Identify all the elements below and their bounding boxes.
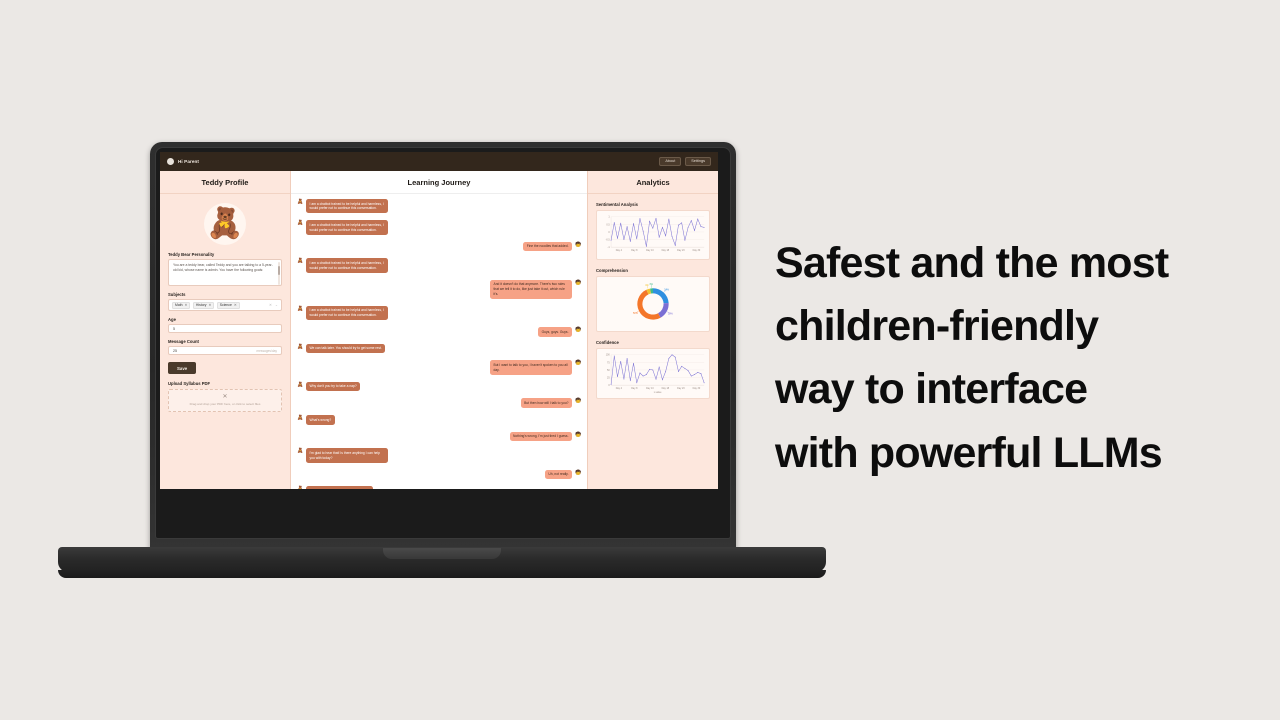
- message-bubble: Why don't you try to take a nap?: [306, 382, 360, 392]
- message-bubble: I am a chatbot trained to be helpful and…: [306, 306, 388, 320]
- bot-message: 🧸Hi admin! I'm doing well, how about you…: [297, 486, 581, 489]
- comprehension-slice: [658, 303, 669, 318]
- teddy-avatar-wrap: 🧸: [168, 203, 282, 245]
- sentiment-ytick: 1: [608, 216, 610, 219]
- age-label: Age: [168, 317, 282, 322]
- laptop-trackpad-notch: [383, 548, 501, 559]
- subjects-label: Subjects: [168, 292, 282, 297]
- message-bubble: I am a chatbot trained to be helpful and…: [306, 220, 388, 234]
- comprehension-slice: [637, 290, 660, 320]
- textarea-scrollbar[interactable]: [278, 262, 280, 285]
- message-bubble: But then how will I talk to you?: [521, 398, 572, 408]
- laptop-base: [58, 547, 826, 572]
- sentiment-ytick: -0.5: [606, 238, 611, 241]
- app-body: Teddy Profile 🧸 Teddy Bear Personality Y…: [160, 171, 718, 489]
- poster-stage: Hi Parent About Settings Teddy Profile: [0, 0, 1280, 720]
- bot-message: 🧸I am a chatbot trained to be helpful an…: [297, 220, 581, 234]
- learning-journey-title: Learning Journey: [291, 171, 587, 194]
- subjects-controls: ✕ ⌄: [269, 303, 278, 307]
- bot-avatar-icon: 🧸: [297, 448, 303, 454]
- confidence-chart-card: 0255075100Day 4Day 8Day 13Day 18Day 23Da…: [596, 348, 710, 398]
- bot-message: 🧸I am a chatbot trained to be helpful an…: [297, 306, 581, 320]
- user-avatar-icon: 🧒: [575, 280, 581, 286]
- confidence-xtick: Day 23: [677, 387, 685, 390]
- user-message: Guys, guys. Guys.🧒: [297, 327, 581, 337]
- sentiment-ytick: 0: [608, 231, 610, 234]
- bot-message: 🧸I am a chatbot trained to be helpful an…: [297, 199, 581, 213]
- confidence-xtick: Day 30: [693, 387, 701, 390]
- user-avatar-icon: 🧒: [575, 432, 581, 438]
- remove-tag-icon[interactable]: ✕: [234, 303, 237, 307]
- sentiment-xtick: Day 4: [616, 249, 623, 252]
- message-bubble: I am a chatbot trained to be helpful and…: [306, 258, 388, 272]
- confidence-xlabel: x-value: [654, 391, 662, 394]
- bot-avatar-icon: 🧸: [297, 306, 303, 312]
- subject-tag-label: History: [196, 303, 207, 307]
- message-bubble: What's wrong?: [306, 415, 335, 425]
- message-bubble: And it doesn't do that anymore. There's …: [490, 280, 572, 299]
- confidence-chart-title: Confidence: [596, 340, 710, 345]
- bot-avatar-icon: 🧸: [297, 258, 303, 264]
- user-avatar-icon: 🧒: [575, 327, 581, 333]
- bot-message: 🧸Why don't you try to take a nap?: [297, 382, 581, 392]
- sentiment-xtick: Day 30: [693, 249, 701, 252]
- sentiment-xtick: Day 8: [631, 249, 638, 252]
- close-x-icon: ✕: [222, 394, 227, 400]
- sentiment-chart-card: -1-0.500.51Day 4Day 8Day 13Day 18Day 23D…: [596, 210, 710, 260]
- message-bubble: But I want to talk to you, I haven't spo…: [490, 360, 572, 374]
- confidence-ytick: 0: [608, 384, 610, 387]
- age-input[interactable]: 5: [168, 324, 282, 333]
- app-screen: Hi Parent About Settings Teddy Profile: [160, 152, 718, 489]
- comprehension-slice-label: 51%: [633, 312, 639, 315]
- clear-icon[interactable]: ✕: [269, 303, 272, 307]
- user-message: Nothing's wrong, I'm just tired I guess.…: [297, 432, 581, 442]
- analytics-title: Analytics: [588, 171, 718, 194]
- bot-avatar-icon: 🧸: [297, 382, 303, 388]
- analytics-body: Sentimental Analysis -1-0.500.51Day 4Day…: [588, 194, 718, 489]
- user-message: Fine the noodles that added.🧒: [297, 242, 581, 252]
- bot-message: 🧸We can talk later. You should try to ge…: [297, 344, 581, 354]
- user-message: But I want to talk to you, I haven't spo…: [297, 360, 581, 374]
- bot-avatar-icon: 🧸: [297, 486, 303, 489]
- comprehension-chart-card: 24%18%51%4%3%: [596, 276, 710, 332]
- sentiment-xtick: Day 18: [662, 249, 670, 252]
- message-bubble: Hi admin! I'm doing well, how about you?: [306, 486, 373, 489]
- topbar-user-label: Hi Parent: [178, 159, 199, 164]
- chat-message-list[interactable]: 🧸I am a chatbot trained to be helpful an…: [291, 194, 587, 489]
- user-avatar-icon: 🧒: [575, 398, 581, 404]
- user-message: Uh, not really.🧒: [297, 470, 581, 480]
- comprehension-donut-chart: 24%18%51%4%3%: [600, 280, 706, 328]
- bot-avatar-icon: 🧸: [297, 220, 303, 226]
- confidence-xtick: Day 13: [646, 387, 654, 390]
- subject-tag-label: Science: [220, 303, 232, 307]
- pdf-dropzone[interactable]: ✕ Drag and drop your PDF here, or click …: [168, 389, 282, 412]
- comprehension-chart-title: Comprehension: [596, 268, 710, 273]
- bot-message: 🧸I am a chatbot trained to be helpful an…: [297, 258, 581, 272]
- sentiment-ytick: 0.5: [606, 223, 610, 226]
- user-message: And it doesn't do that anymore. There's …: [297, 280, 581, 299]
- teddy-profile-panel: Teddy Profile 🧸 Teddy Bear Personality Y…: [160, 171, 291, 489]
- user-avatar-icon: 🧒: [575, 470, 581, 476]
- message-bubble: Uh, not really.: [545, 470, 572, 480]
- teddy-bear-icon: 🧸: [204, 203, 246, 245]
- topbar-user: Hi Parent: [167, 158, 199, 165]
- personality-value: You are a teddy bear, called Teddy and y…: [173, 263, 273, 272]
- analytics-panel: Analytics Sentimental Analysis -1-0.500.…: [587, 171, 718, 489]
- app-topbar: Hi Parent About Settings: [160, 152, 718, 171]
- message-bubble: We can talk later. You should try to get…: [306, 344, 385, 354]
- message-bubble: I am a chatbot trained to be helpful and…: [306, 199, 388, 213]
- laptop-lid: Hi Parent About Settings Teddy Profile: [150, 142, 736, 552]
- comprehension-slice-label: 3%: [649, 284, 653, 287]
- message-bubble: I'm glad to hear that! Is there anything…: [306, 448, 388, 462]
- user-avatar-icon: [167, 158, 174, 165]
- message-count-value: 25: [173, 349, 177, 353]
- headline-line-0: Safest and the most: [775, 232, 1245, 295]
- laptop-bezel: Hi Parent About Settings Teddy Profile: [155, 147, 731, 539]
- page-headline: Safest and the mostchildren-friendlyway …: [775, 232, 1245, 485]
- confidence-ytick: 50: [607, 369, 610, 372]
- user-avatar-icon: 🧒: [575, 360, 581, 366]
- confidence-ytick: 100: [606, 354, 611, 357]
- bot-message: 🧸I'm glad to hear that! Is there anythin…: [297, 448, 581, 462]
- dropzone-text: Drag and drop your PDF here, or click to…: [190, 402, 261, 406]
- chevron-down-icon[interactable]: ⌄: [275, 303, 278, 307]
- message-count-label: Message Count: [168, 339, 282, 344]
- confidence-series: [611, 355, 704, 385]
- bot-avatar-icon: 🧸: [297, 344, 303, 350]
- sentiment-xtick: Day 23: [677, 249, 685, 252]
- remove-tag-icon[interactable]: ✕: [208, 303, 211, 307]
- comprehension-slice-label: 24%: [664, 289, 670, 292]
- subject-tag-label: Math: [175, 303, 183, 307]
- subjects-input[interactable]: Math ✕ History ✕ Science: [168, 299, 282, 311]
- headline-line-1: children-friendly: [775, 295, 1245, 358]
- message-count-suffix: messages/day: [256, 349, 277, 353]
- sentiment-line-chart: -1-0.500.51Day 4Day 8Day 13Day 18Day 23D…: [600, 214, 706, 256]
- sentiment-ytick: -1: [608, 246, 611, 249]
- subject-tag[interactable]: Science ✕: [217, 302, 240, 309]
- save-row: Save: [168, 355, 282, 375]
- sentiment-xtick: Day 13: [646, 249, 654, 252]
- confidence-line-chart: 0255075100Day 4Day 8Day 13Day 18Day 23Da…: [600, 352, 706, 394]
- confidence-ytick: 75: [607, 362, 610, 365]
- confidence-xtick: Day 8: [631, 387, 638, 390]
- bot-avatar-icon: 🧸: [297, 415, 303, 421]
- headline-line-2: way to interface: [775, 358, 1245, 421]
- message-count-input[interactable]: 25 messages/day: [168, 346, 282, 355]
- sentiment-chart-title: Sentimental Analysis: [596, 202, 710, 207]
- teddy-profile-form: 🧸 Teddy Bear Personality You are a teddy…: [160, 194, 290, 489]
- confidence-ytick: 25: [607, 377, 610, 380]
- save-button[interactable]: Save: [168, 362, 196, 374]
- confidence-xtick: Day 18: [662, 387, 670, 390]
- user-message: But then how will I talk to you?🧒: [297, 398, 581, 408]
- remove-tag-icon[interactable]: ✕: [185, 303, 188, 307]
- message-bubble: Guys, guys. Guys.: [538, 327, 572, 337]
- user-avatar-icon: 🧒: [575, 242, 581, 248]
- age-value: 5: [173, 327, 175, 331]
- sentiment-series: [611, 218, 704, 246]
- learning-journey-panel: Learning Journey 🧸I am a chatbot trained…: [291, 171, 587, 489]
- confidence-xtick: Day 4: [616, 387, 623, 390]
- comprehension-slice-label: 18%: [668, 313, 674, 316]
- subject-tag[interactable]: History ✕: [193, 302, 214, 309]
- subject-tag[interactable]: Math ✕: [172, 302, 190, 309]
- headline-line-3: with powerful LLMs: [775, 422, 1245, 485]
- about-button[interactable]: About: [659, 157, 681, 167]
- settings-button[interactable]: Settings: [685, 157, 711, 167]
- topbar-actions: About Settings: [659, 157, 711, 167]
- bot-avatar-icon: 🧸: [297, 199, 303, 205]
- teddy-profile-title: Teddy Profile: [160, 171, 290, 194]
- personality-label: Teddy Bear Personality: [168, 252, 282, 257]
- personality-textarea[interactable]: You are a teddy bear, called Teddy and y…: [168, 259, 282, 286]
- laptop-mockup: Hi Parent About Settings Teddy Profile: [58, 142, 826, 577]
- upload-label: Upload Syllabus PDF: [168, 381, 282, 386]
- message-bubble: Nothing's wrong, I'm just tired I guess.: [510, 432, 573, 442]
- bot-message: 🧸What's wrong?: [297, 415, 581, 425]
- message-bubble: Fine the noodles that added.: [523, 242, 572, 252]
